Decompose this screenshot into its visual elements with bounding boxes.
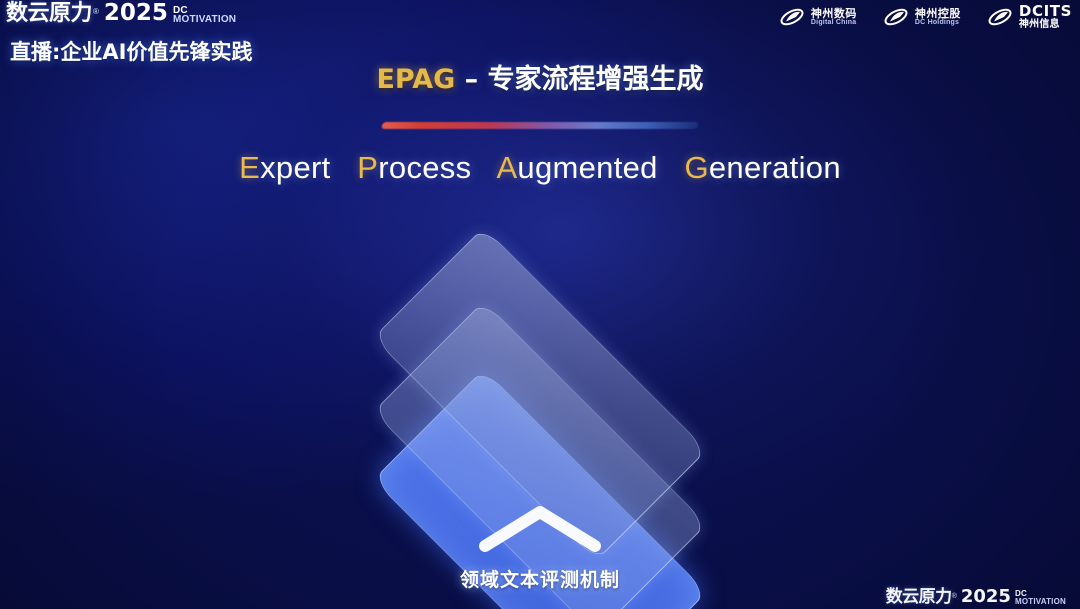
expansion-word-generation: Generation (684, 150, 840, 185)
brand-dcits-cn: DCITS (1019, 4, 1072, 20)
event-logo-cn: 数云原力 (6, 3, 92, 25)
acronym-expansion: Expert Process Augmented Generation (0, 150, 1080, 186)
event-logo-dc: DC MOTIVATION (173, 6, 236, 24)
title-dash: – (455, 64, 487, 95)
chevron-up-icon (475, 500, 605, 556)
expansion-word-process: Process (357, 150, 471, 185)
title-divider (381, 122, 699, 129)
broadcast-subtitle: 直播:企业AI价值先锋实践 (10, 36, 252, 66)
title-acronym: EPAG (376, 64, 455, 95)
brand-digital-china: 神州数码 Digital China (779, 7, 857, 27)
partner-logos: 神州数码 Digital China 神州控股 DC Holdings DCIT… (779, 4, 1072, 30)
watermark-dc-line2: MOTIVATION (1015, 598, 1066, 605)
swoosh-icon (779, 7, 805, 27)
brand-dcits-en: 神州信息 (1019, 20, 1072, 31)
layered-architecture-diagram: 领域文本评测机制 Dynamic MOE 长文本记忆 三类语义建模模块 (318, 236, 762, 568)
header-left: 数云原力 ® 2025 DC MOTIVATION 直播:企业AI价值先锋实践 (6, 2, 252, 66)
swoosh-icon (883, 7, 909, 27)
expansion-word-augmented: Augmented (496, 150, 657, 185)
brand-digital-china-en: Digital China (811, 19, 857, 26)
watermark-year: 2025 (961, 588, 1011, 606)
event-logo-year: 2025 (104, 2, 168, 25)
brand-dc-holdings-en: DC Holdings (915, 19, 961, 26)
footer-watermark-logo: 数云原力 ® 2025 DC MOTIVATION (886, 588, 1066, 606)
brand-dc-holdings: 神州控股 DC Holdings (883, 7, 961, 27)
watermark-dc: DC MOTIVATION (1015, 590, 1066, 605)
expansion-word-expert: Expert (239, 150, 330, 185)
title-chinese: 专家流程增强生成 (488, 64, 704, 95)
event-logo: 数云原力 ® 2025 DC MOTIVATION (6, 2, 252, 25)
swoosh-icon (987, 7, 1013, 27)
registered-mark-icon: ® (93, 8, 99, 16)
brand-digital-china-cn: 神州数码 (811, 8, 857, 20)
brand-dc-holdings-cn: 神州控股 (915, 8, 961, 20)
slide-canvas: 数云原力 ® 2025 DC MOTIVATION 直播:企业AI价值先锋实践 … (0, 0, 1080, 609)
brand-dcits: DCITS 神州信息 (987, 4, 1072, 30)
watermark-cn: 数云原力 (886, 589, 952, 606)
event-logo-dc-line2: MOTIVATION (173, 15, 236, 24)
watermark-registered-mark-icon: ® (952, 593, 957, 600)
diagram-layer-top-label: 领域文本评测机制 (460, 565, 620, 592)
